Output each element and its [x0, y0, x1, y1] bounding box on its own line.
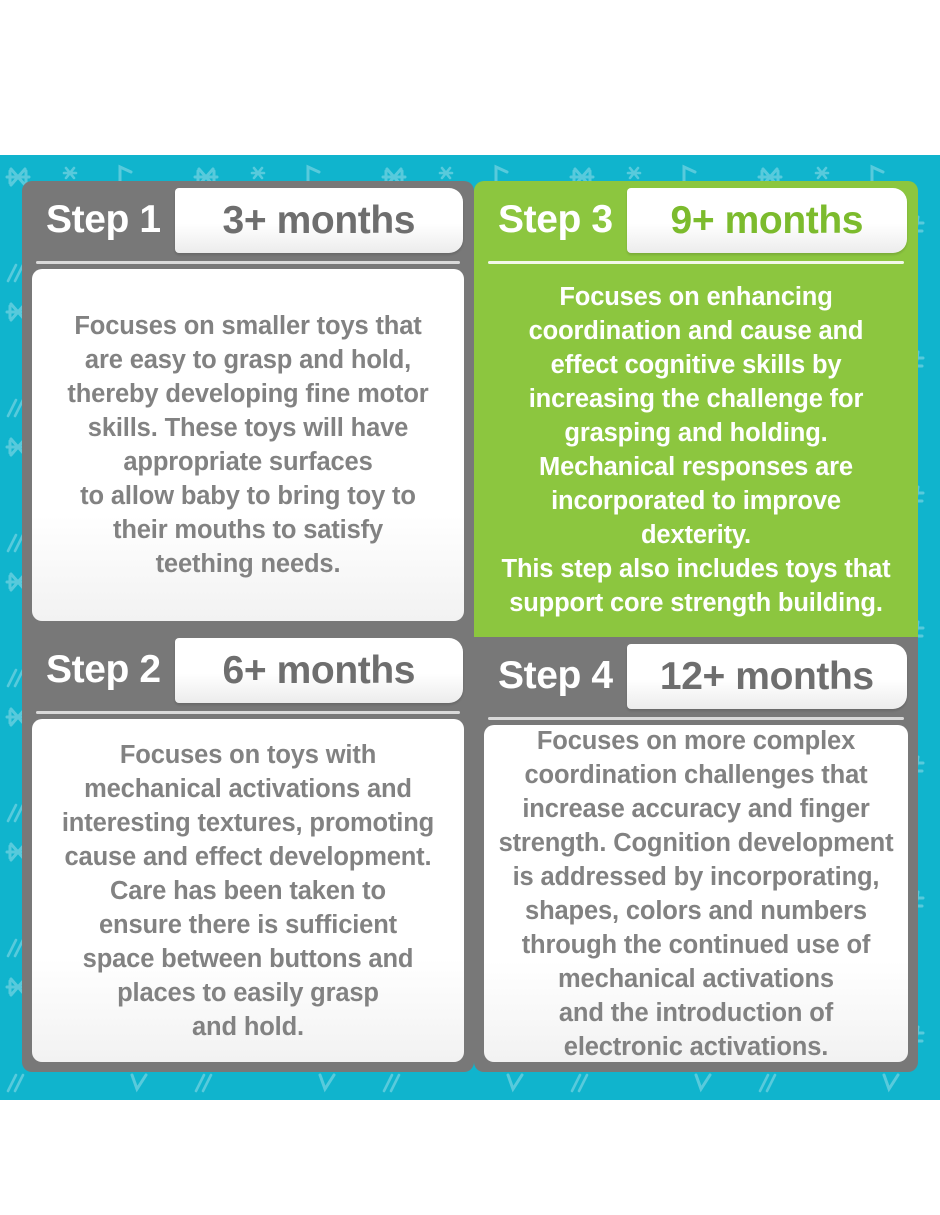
step-card-2[interactable]: Step 2 6+ months Focuses on toys with me… — [22, 631, 474, 1072]
step-card-1-age-pill: 3+ months — [175, 188, 463, 253]
step-card-3-step-label: Step 3 — [474, 181, 627, 259]
step-card-3-divider — [488, 261, 904, 264]
infographic-banner: Step 1 3+ months Focuses on smaller toys… — [0, 155, 940, 1100]
step-card-3-age-pill: 9+ months — [627, 188, 907, 253]
step-card-2-step-label: Step 2 — [22, 631, 175, 709]
step-card-4-body-text: Focuses on more complex coordination cha… — [499, 724, 894, 1064]
step-card-2-body-text: Focuses on toys with mechanical activati… — [62, 738, 434, 1044]
steps-grid: Step 1 3+ months Focuses on smaller toys… — [22, 181, 918, 1072]
step-card-3-header: Step 3 9+ months — [474, 181, 918, 259]
step-card-3-body-text: Focuses on enhancing coordination and ca… — [494, 280, 898, 620]
step-card-3-body: Focuses on enhancing coordination and ca… — [480, 267, 912, 633]
step-card-4-step-label: Step 4 — [474, 637, 627, 715]
step-card-4[interactable]: Step 4 12+ months Focuses on more comple… — [474, 637, 918, 1072]
step-card-2-divider — [36, 711, 460, 714]
step-card-2-header: Step 2 6+ months — [22, 631, 474, 709]
step-card-2-age-pill: 6+ months — [175, 638, 463, 703]
step-card-1[interactable]: Step 1 3+ months Focuses on smaller toys… — [22, 181, 474, 631]
step-card-3[interactable]: Step 3 9+ months Focuses on enhancing co… — [474, 181, 918, 637]
step-card-1-header: Step 1 3+ months — [22, 181, 474, 259]
step-card-1-step-label: Step 1 — [22, 181, 175, 259]
step-card-1-body: Focuses on smaller toys that are easy to… — [32, 269, 464, 621]
step-card-1-divider — [36, 261, 460, 264]
step-card-4-header: Step 4 12+ months — [474, 637, 918, 715]
step-card-2-body: Focuses on toys with mechanical activati… — [32, 719, 464, 1062]
step-card-1-body-text: Focuses on smaller toys that are easy to… — [67, 309, 428, 581]
step-card-4-body: Focuses on more complex coordination cha… — [484, 725, 908, 1062]
step-card-4-age-pill: 12+ months — [627, 644, 907, 709]
step-card-4-divider — [488, 717, 904, 720]
